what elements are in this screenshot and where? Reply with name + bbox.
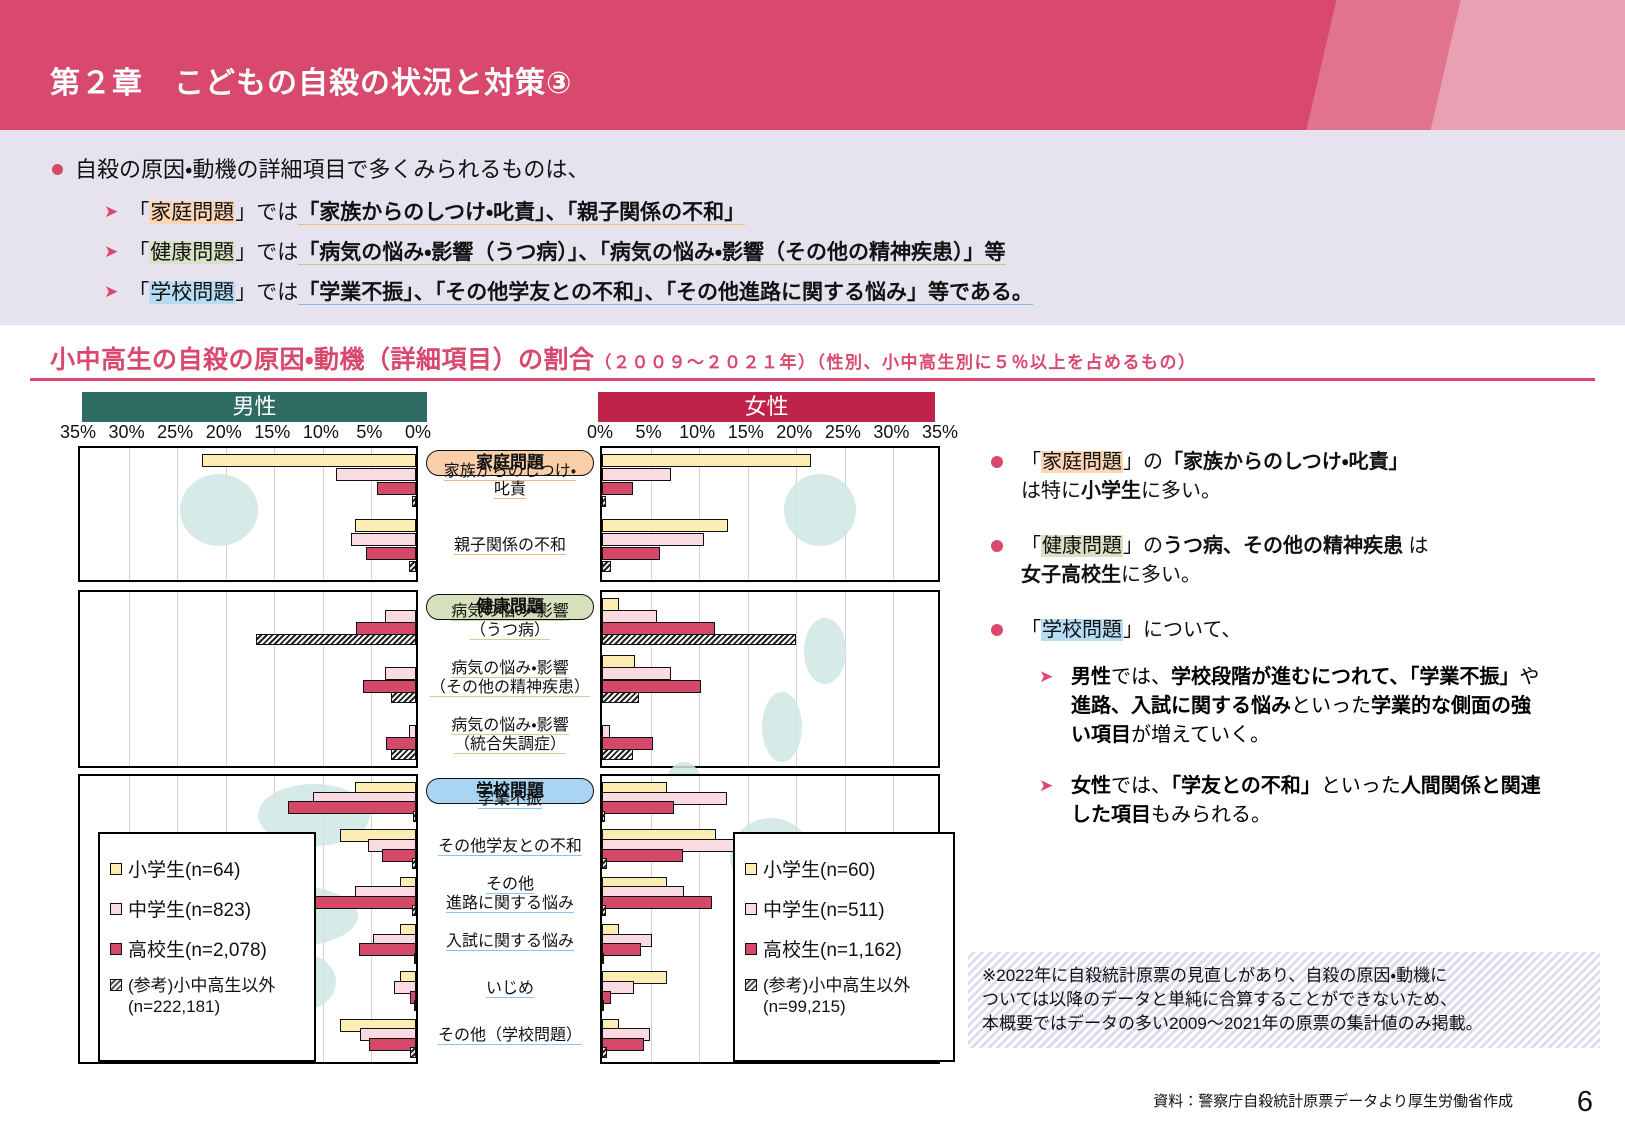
bar-ref — [602, 561, 611, 572]
bar-jh — [602, 725, 610, 738]
bullet-dot-icon — [52, 164, 63, 175]
axis-tick: 0% — [587, 422, 613, 443]
bar-es — [355, 519, 416, 532]
row-label: 入試に関する悩み — [420, 933, 600, 952]
legend-male: 小学生(n=64)中学生(n=823)高校生(n=2,078)(参考)小中高生以… — [98, 832, 316, 1062]
row-label: 病気の悩み・影響（うつ病） — [420, 603, 600, 641]
bar-ref — [602, 1047, 607, 1058]
note-home: 「家庭問題」の「家族からのしつけ・叱責」 は特に小学生に多い。 — [985, 448, 1605, 506]
summary-row-home: ➤「家庭問題」では「家族からのしつけ・叱責」、「親子関係の不和」 — [104, 196, 745, 226]
summary-row-health-prefix: 」では — [235, 241, 298, 264]
bar-ref — [410, 1047, 416, 1058]
bullet-dot-icon — [991, 540, 1003, 552]
commentary-panel: 「家庭問題」の「家族からのしつけ・叱責」 は特に小学生に多い。 「健康問題」のう… — [985, 448, 1605, 852]
legend-swatch — [745, 863, 757, 875]
bar-ref — [409, 561, 416, 572]
row-label: その他学友との不和 — [420, 838, 600, 857]
grid-line — [845, 592, 846, 766]
legend-label-2: (n=222,181) — [128, 996, 304, 1017]
chart-panel-health-female — [600, 590, 940, 768]
bar-ref — [602, 634, 796, 645]
bar-ref — [602, 1000, 604, 1011]
legend-label: 高校生(n=1,162) — [763, 935, 902, 962]
note-home-bold: 「家族からのしつけ・叱責」 — [1163, 451, 1409, 473]
legend-female: 小学生(n=60)中学生(n=511)高校生(n=1,162)(参考)小中高生以… — [733, 832, 955, 1062]
note-health-a: 「 — [1021, 535, 1041, 557]
bar-ref — [391, 749, 416, 760]
arrow-bullet-icon: ➤ — [1039, 665, 1053, 690]
highlight-blob — [762, 692, 802, 762]
legend-label: (参考)小中高生以外 — [128, 976, 275, 995]
bar-es — [602, 655, 635, 668]
row-label: その他進路に関する悩み — [420, 876, 600, 914]
header-chapter: 第２章 こどもの自殺の状況と対策③ — [50, 63, 619, 104]
legend-label: (参考)小中高生以外 — [763, 976, 910, 995]
row-label: 病気の悩み・影響（その他の精神疾患） — [420, 660, 600, 698]
bar-hs — [288, 801, 416, 814]
grid-line — [699, 448, 700, 580]
chart-panel-home-male — [78, 446, 418, 582]
bar-hs — [363, 680, 416, 693]
legend-item: 高校生(n=1,162) — [745, 935, 943, 962]
axis-tick: 5% — [356, 422, 382, 443]
bar-jh — [336, 468, 416, 481]
legend-swatch — [745, 979, 757, 991]
slide-page: 第２章 こどもの自殺の状況と対策③ 小中高生の自殺の原因・動機（詳細項目） 自殺… — [0, 0, 1625, 1125]
grid-line — [323, 592, 324, 766]
summary-lead-text: 自殺の原因・動機の詳細項目で多くみられるものは、 — [75, 157, 589, 182]
axis-tick: 25% — [825, 422, 861, 443]
note-home-bold2: 小学生 — [1081, 480, 1141, 502]
bar-hs — [304, 896, 416, 909]
note-school: 「学校問題」について、 — [985, 616, 1605, 645]
note-health-b: 」の — [1123, 535, 1163, 557]
sub1-bold1: 男性 — [1071, 666, 1111, 688]
page-number: 6 — [1577, 1086, 1593, 1119]
bar-hs — [359, 943, 416, 956]
bar-jh — [602, 468, 671, 481]
bar-es — [602, 598, 619, 611]
note-home-c: は特に — [1021, 480, 1081, 502]
axis-tick: 20% — [776, 422, 812, 443]
arrow-bullet-icon: ➤ — [104, 202, 118, 222]
note-school-male: ➤ 男性では、学校段階が進むにつれて、「学業不振」や進路、入試に関する悩みといっ… — [1037, 663, 1547, 750]
grid-line — [748, 448, 749, 580]
bullet-dot-icon — [991, 624, 1003, 636]
bar-ref — [602, 692, 639, 703]
sub1-bold2: 学校段階が進むにつれて、 — [1171, 666, 1409, 688]
bar-hs — [602, 943, 641, 956]
legend-swatch — [110, 979, 122, 991]
bar-ref — [602, 749, 633, 760]
grid-line — [177, 592, 178, 766]
sub1-t1: では、 — [1111, 666, 1171, 688]
header-wedge-lighter — [1295, 0, 1625, 130]
summary-row-school-prefix: 」では — [235, 281, 298, 304]
row-label: 親子関係の不和 — [420, 537, 600, 556]
note-home-b: 」の — [1123, 451, 1163, 473]
axis-tick: 25% — [157, 422, 193, 443]
summary-band: 自殺の原因・動機の詳細項目で多くみられるものは、 ➤「家庭問題」では「家族からの… — [0, 130, 1625, 325]
footnote-box: ※2022年に自殺統計原票の見直しがあり、自殺の原因・動機に ついては以降のデー… — [968, 952, 1600, 1048]
chart-title: 小中高生の自殺の原因・動機（詳細項目）の割合（２００９～２０２１年）（性別、小中… — [50, 340, 1197, 376]
bar-ref — [391, 692, 416, 703]
bar-ref — [413, 811, 416, 822]
grid-line — [226, 592, 227, 766]
note-health-bold2: 女子高校生 — [1021, 564, 1121, 586]
bar-jh — [351, 533, 416, 546]
bar-ref — [412, 496, 416, 507]
legend-label-2: (n=99,215) — [763, 996, 943, 1017]
bar-ref — [256, 634, 416, 645]
legend-item: 高校生(n=2,078) — [110, 935, 304, 962]
highlight-blob — [180, 474, 258, 546]
bar-es — [602, 519, 728, 532]
axis-tick: 35% — [922, 422, 958, 443]
summary-row-home-items: 「家族からのしつけ・叱責」、「親子関係の不和」 — [298, 201, 745, 225]
grid-line — [129, 592, 130, 766]
grid-line — [893, 592, 894, 766]
note-school-female: ➤ 女性では、「学友との不和」といった人間関係と関連した項目もみられる。 — [1037, 772, 1547, 830]
row-label: 病気の悩み・影響（統合失調症） — [420, 717, 600, 755]
row-label: 家族からのしつけ・叱責 — [420, 463, 600, 501]
summary-row-health: ➤「健康問題」では「病気の悩み・影響（うつ病）」、「病気の悩み・影響（その他の精… — [104, 236, 1006, 266]
title-divider — [30, 378, 1595, 381]
legend-swatch — [110, 863, 122, 875]
bar-hs — [602, 547, 660, 560]
bar-hs — [602, 801, 674, 814]
summary-row-health-items: 「病気の悩み・影響（うつ病）」、「病気の悩み・影響（その他の精神疾患）」等 — [298, 241, 1005, 265]
note-health: 「健康問題」のうつ病、その他の精神疾患 は 女子高校生に多い。 — [985, 532, 1605, 590]
summary-row-school-items: 「学業不振」、「その他学友との不和」、「その他進路に関する悩み」等である。 — [298, 281, 1033, 305]
axis-tick: 0% — [405, 422, 431, 443]
axis-tick: 30% — [109, 422, 145, 443]
note-school-b: 」について、 — [1123, 619, 1241, 641]
note-school-a: 「 — [1021, 619, 1041, 641]
legend-item: 中学生(n=823) — [110, 895, 304, 922]
bar-ref — [414, 953, 416, 964]
legend-label: 小学生(n=64) — [128, 855, 240, 882]
grid-line — [323, 448, 324, 580]
sub1-t2: や — [1519, 666, 1539, 688]
tag-health: 健康問題 — [149, 241, 235, 264]
summary-row-school: ➤「学校問題」では「学業不振」、「その他学友との不和」、「その他進路に関する悩み… — [104, 276, 1033, 306]
footnote-line-2: ついては以降のデータと単純に合算することができないため、 — [982, 988, 1586, 1012]
legend-label: 中学生(n=823) — [128, 895, 251, 922]
grid-line — [129, 448, 130, 580]
axis-tick: 35% — [60, 422, 96, 443]
grid-line — [274, 592, 275, 766]
summary-row-home-prefix: 」では — [235, 201, 298, 224]
note-home-tag: 家庭問題 — [1041, 451, 1123, 473]
note-health-c: は — [1403, 535, 1429, 557]
legend-item: 中学生(n=511) — [745, 895, 943, 922]
sub2-t2: といった — [1321, 775, 1401, 797]
axis-tick: 20% — [206, 422, 242, 443]
bar-ref — [602, 811, 605, 822]
tag-home: 家庭問題 — [149, 201, 235, 224]
bar-hs — [602, 896, 712, 909]
row-label: その他（学校問題） — [420, 1027, 600, 1046]
sub1-bold4: 進路、入試に関する悩み — [1071, 695, 1291, 717]
grid-line — [699, 776, 700, 1062]
note-school-tag: 学校問題 — [1041, 619, 1123, 641]
page-title: 第２章 こどもの自殺の状況と対策③ 小中高生の自殺の原因・動機（詳細項目） — [50, 22, 619, 130]
grid-line — [177, 448, 178, 580]
row-label: 学業不振 — [420, 791, 600, 810]
legend-item: 小学生(n=60) — [745, 855, 943, 882]
bullet-dot-icon — [991, 456, 1003, 468]
axis-tick: 15% — [254, 422, 290, 443]
legend-label: 中学生(n=511) — [763, 895, 885, 922]
row-label: いじめ — [420, 980, 600, 999]
sub2-t1: では、 — [1111, 775, 1171, 797]
page-header: 第２章 こどもの自殺の状況と対策③ 小中高生の自殺の原因・動機（詳細項目） — [0, 0, 1625, 130]
bar-hs — [602, 622, 715, 635]
legend-swatch — [745, 903, 757, 915]
axis-tick: 10% — [303, 422, 339, 443]
bar-ref — [602, 953, 604, 964]
sub2-bold1: 女性 — [1071, 775, 1111, 797]
chart-area: 男性 女性 35%30%25%20%15%10%5%0% 0%5%10%15%2… — [0, 392, 960, 1072]
arrow-bullet-icon: ➤ — [104, 282, 118, 302]
grid-line — [748, 592, 749, 766]
bar-ref — [412, 905, 416, 916]
chart-title-main: 小中高生の自殺の原因・動機（詳細項目）の割合 — [50, 346, 595, 374]
bar-ref — [602, 905, 606, 916]
bar-hs — [366, 547, 417, 560]
bar-hs — [369, 1038, 416, 1051]
bar-hs — [602, 849, 683, 862]
summary-lead: 自殺の原因・動機の詳細項目で多くみられるものは、 — [52, 152, 589, 184]
gender-tab-female: 女性 — [598, 392, 935, 422]
bar-jh — [385, 667, 416, 680]
bar-hs — [602, 482, 633, 495]
note-home-a: 「 — [1021, 451, 1041, 473]
bar-ref — [602, 858, 607, 869]
sub2-t3: もみられる。 — [1151, 804, 1271, 826]
legend-item-reference: (参考)小中高生以外(n=222,181) — [110, 975, 304, 1018]
legend-label: 高校生(n=2,078) — [128, 935, 267, 962]
sub1-t4: が増えていく。 — [1131, 724, 1270, 746]
highlight-blob — [784, 474, 856, 546]
axis-ticks-female: 0%5%10%15%20%25%30%35% — [562, 422, 978, 446]
bar-hs — [602, 737, 653, 750]
note-home-d: に多い。 — [1141, 480, 1221, 502]
axis-tick: 15% — [728, 422, 764, 443]
chart-panel-home-female — [600, 446, 940, 582]
source-credit: 資料：警察庁自殺統計原票データより厚生労働省作成 — [1153, 1090, 1513, 1111]
legend-item-reference: (参考)小中高生以外(n=99,215) — [745, 975, 943, 1018]
grid-line — [651, 776, 652, 1062]
footnote-line-3: 本概要ではデータの多い2009～2021年の原票の集計値のみ掲載。 — [982, 1012, 1586, 1036]
bar-ref — [412, 858, 416, 869]
arrow-bullet-icon: ➤ — [1039, 774, 1053, 799]
grid-line — [274, 448, 275, 580]
chart-title-sub: （２００９～２０２１年）（性別、小中高生別に５％以上を占めるもの） — [595, 353, 1197, 372]
note-health-d: に多い。 — [1121, 564, 1201, 586]
bar-jh — [409, 725, 416, 738]
highlight-blob — [804, 618, 846, 684]
bar-jh — [385, 610, 416, 623]
footnote-line-1: ※2022年に自殺統計原票の見直しがあり、自殺の原因・動機に — [982, 964, 1586, 988]
bar-jh — [602, 667, 671, 680]
chart-panel-health-male — [78, 590, 418, 768]
note-health-tag: 健康問題 — [1041, 535, 1123, 557]
tag-school: 学校問題 — [149, 281, 235, 304]
bar-ref — [414, 1000, 416, 1011]
bar-hs — [602, 1038, 644, 1051]
sub1-bold3: 「学業不振」 — [1409, 666, 1519, 688]
axis-tick: 5% — [636, 422, 662, 443]
bar-jh — [602, 610, 657, 623]
legend-swatch — [110, 943, 122, 955]
note-health-bold: うつ病、その他の精神疾患 — [1163, 535, 1403, 557]
legend-label: 小学生(n=60) — [763, 855, 875, 882]
axis-tick: 30% — [873, 422, 909, 443]
bar-es — [602, 454, 811, 467]
arrow-bullet-icon: ➤ — [104, 242, 118, 262]
grid-line — [893, 448, 894, 580]
axis-tick: 10% — [679, 422, 715, 443]
bar-ref — [602, 496, 606, 507]
bar-hs — [382, 849, 416, 862]
bar-hs — [386, 737, 416, 750]
legend-swatch — [110, 903, 122, 915]
bar-jh — [602, 533, 704, 546]
bar-hs — [602, 680, 701, 693]
sub1-t3: といった — [1291, 695, 1371, 717]
legend-item: 小学生(n=64) — [110, 855, 304, 882]
category-label-column: 家庭問題家族からのしつけ・叱責親子関係の不和健康問題病気の悩み・影響（うつ病）病… — [420, 446, 600, 1072]
legend-swatch — [745, 943, 757, 955]
sub2-bold2: 「学友との不和」 — [1171, 775, 1321, 797]
gender-tab-male: 男性 — [82, 392, 427, 422]
bar-hs — [356, 622, 416, 635]
axis-ticks-male: 35%30%25%20%15%10%5%0% — [40, 422, 456, 446]
bar-es — [202, 454, 416, 467]
bar-hs — [377, 482, 416, 495]
